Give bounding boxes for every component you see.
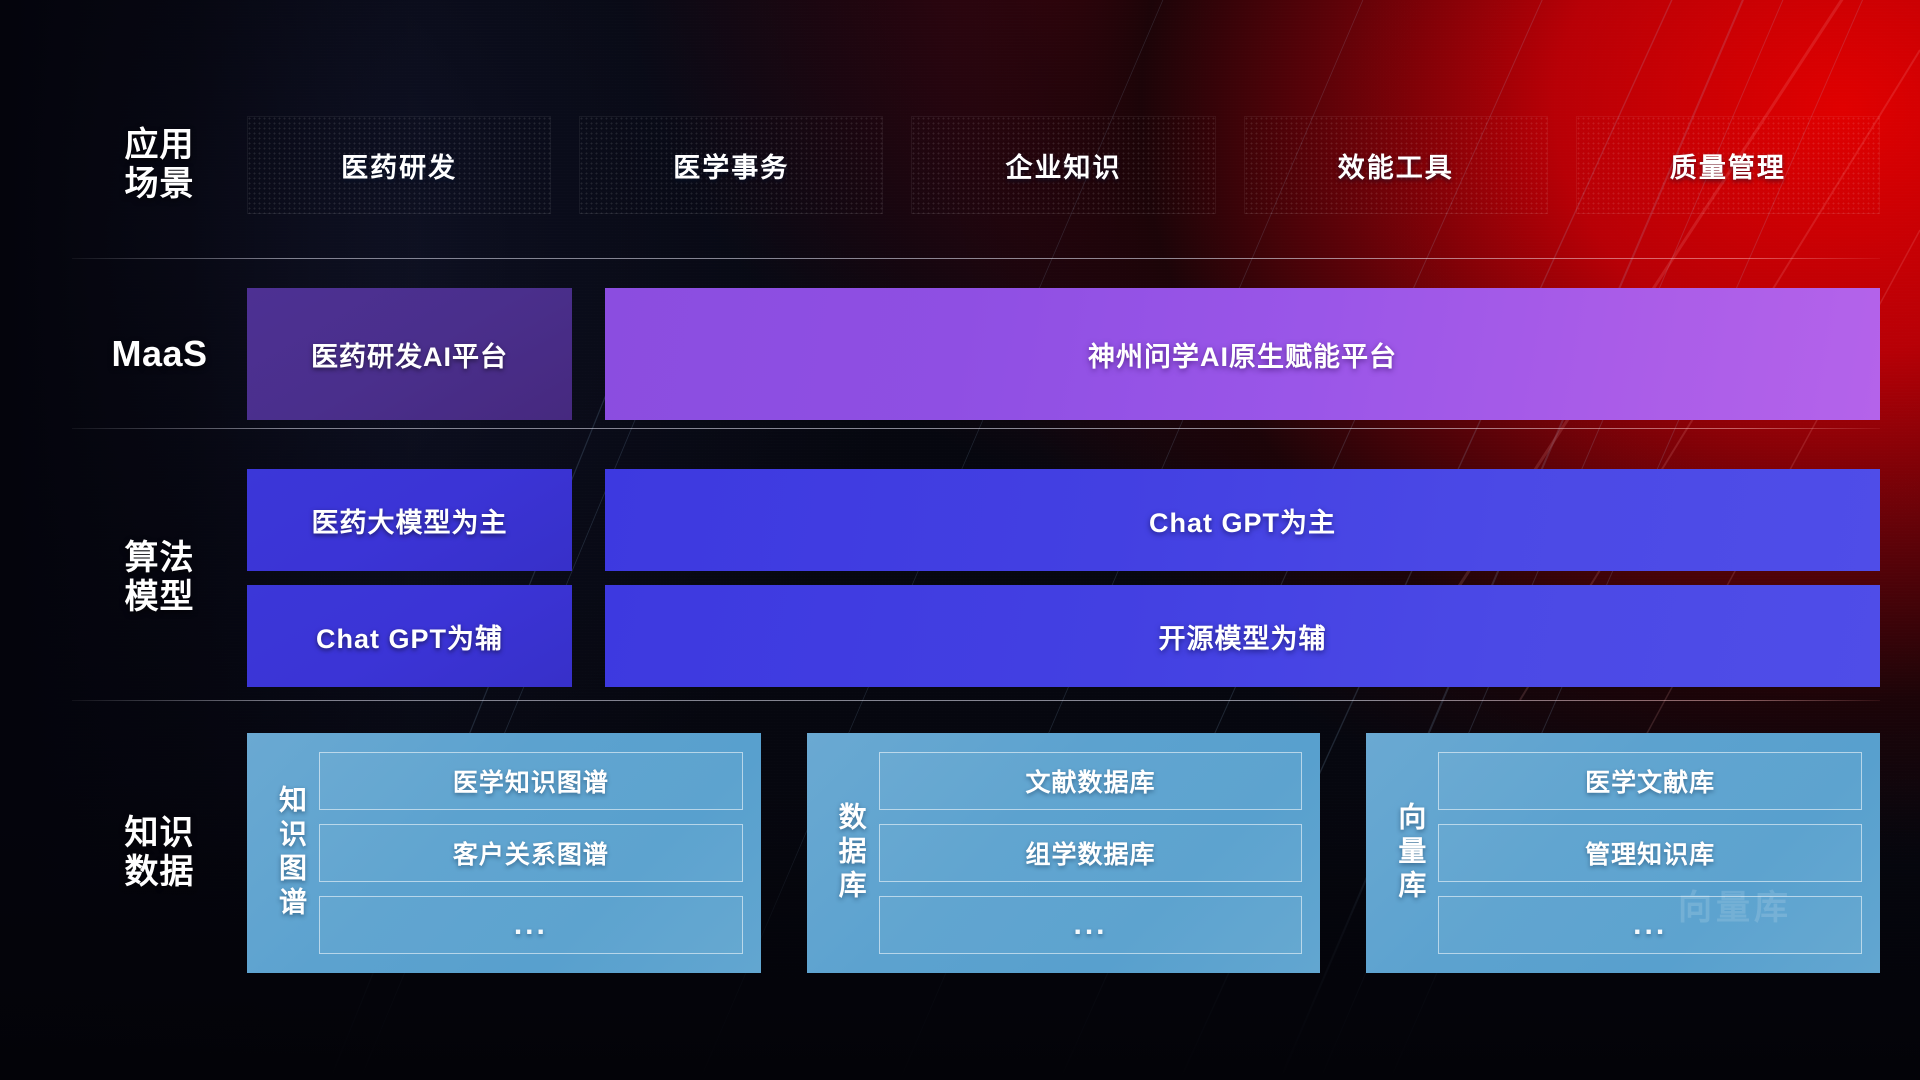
scenario-box-efficiency-tools[interactable]: 效能工具 [1244, 116, 1548, 214]
scenario-box-quality-management[interactable]: 质量管理 [1576, 116, 1880, 214]
algorithm-box-opensource-secondary[interactable]: 开源模型为辅 [605, 585, 1880, 687]
knowledge-item-medical-knowledge-graph[interactable]: 医学知识图谱 [319, 752, 743, 810]
knowledge-item-omics-database[interactable]: 组学数据库 [879, 824, 1303, 882]
knowledge-item-customer-relation-graph[interactable]: 客户关系图谱 [319, 824, 743, 882]
algorithm-box-label: Chat GPT为辅 [316, 617, 503, 656]
scenario-box-list: 医药研发 医学事务 企业知识 效能工具 质量管理 [247, 116, 1880, 214]
divider-algorithm-knowledge [72, 700, 1880, 701]
knowledge-item-label: 组学数据库 [1026, 835, 1156, 871]
algorithm-box-grid: 医药大模型为主 Chat GPT为主 Chat GPT为辅 开源模型为辅 [247, 469, 1880, 687]
knowledge-item-label: ... [1633, 908, 1667, 942]
algorithm-box-pharma-llm-primary[interactable]: 医药大模型为主 [247, 469, 572, 571]
maas-box-label: 神州问学AI原生赋能平台 [1088, 335, 1397, 374]
knowledge-item-label: 客户关系图谱 [453, 835, 609, 871]
knowledge-item-label: 管理知识库 [1585, 835, 1715, 871]
scenario-box-medicine-rnd[interactable]: 医药研发 [247, 116, 551, 214]
maas-box-pharma-ai-platform[interactable]: 医药研发AI平台 [247, 288, 572, 420]
knowledge-group-database[interactable]: 数据库 文献数据库 组学数据库 ... [807, 733, 1321, 973]
scenario-box-label: 企业知识 [1006, 146, 1122, 185]
knowledge-group-title: 数据库 [837, 747, 865, 959]
knowledge-group-list: 知识图谱 医学知识图谱 客户关系图谱 ... 数据库 [247, 733, 1880, 973]
knowledge-item-list: 文献数据库 组学数据库 ... [879, 747, 1303, 959]
scenario-box-label: 医药研发 [341, 146, 457, 185]
knowledge-item-management-knowledge-store[interactable]: 管理知识库 [1438, 824, 1862, 882]
knowledge-item-more[interactable]: ... [1438, 896, 1862, 954]
algorithm-line-2: Chat GPT为辅 开源模型为辅 [247, 585, 1880, 687]
knowledge-item-list: 医学知识图谱 客户关系图谱 ... [319, 747, 743, 959]
algorithm-box-chatgpt-secondary[interactable]: Chat GPT为辅 [247, 585, 572, 687]
knowledge-group-title: 知识图谱 [277, 747, 305, 959]
scenario-box-label: 医学事务 [673, 146, 789, 185]
knowledge-item-list: 医学文献库 管理知识库 ... [1438, 747, 1862, 959]
maas-box-shenzhou-wenxue-platform[interactable]: 神州问学AI原生赋能平台 [605, 288, 1880, 420]
maas-box-label: 医药研发AI平台 [311, 335, 508, 374]
knowledge-item-label: ... [1074, 908, 1108, 942]
algorithm-box-label: 医药大模型为主 [312, 501, 508, 540]
row-label-scenario: 应用 场景 [72, 126, 247, 205]
maas-box-list: 医药研发AI平台 神州问学AI原生赋能平台 [247, 288, 1880, 420]
row-knowledge: 知识 数据 知识图谱 医学知识图谱 客户关系图谱 ... 数据库 [72, 728, 1880, 978]
knowledge-group-vector-store[interactable]: 向量库 医学文献库 管理知识库 ... [1366, 733, 1880, 973]
algorithm-box-label: Chat GPT为主 [1149, 501, 1336, 540]
knowledge-item-more[interactable]: ... [879, 896, 1303, 954]
divider-scenario-maas [72, 258, 1880, 259]
algorithm-line-1: 医药大模型为主 Chat GPT为主 [247, 469, 1880, 571]
knowledge-item-label: 医学知识图谱 [453, 763, 609, 799]
algorithm-box-label: 开源模型为辅 [1159, 617, 1327, 656]
knowledge-item-more[interactable]: ... [319, 896, 743, 954]
row-scenario: 应用 场景 医药研发 医学事务 企业知识 效能工具 质量管理 [72, 110, 1880, 220]
knowledge-item-label: 文献数据库 [1026, 763, 1156, 799]
algorithm-box-chatgpt-primary[interactable]: Chat GPT为主 [605, 469, 1880, 571]
scenario-box-label: 效能工具 [1338, 146, 1454, 185]
knowledge-item-medical-literature-store[interactable]: 医学文献库 [1438, 752, 1862, 810]
scenario-box-medical-affairs[interactable]: 医学事务 [579, 116, 883, 214]
row-label-algorithm: 算法 模型 [72, 539, 247, 618]
slide-canvas: 应用 场景 医药研发 医学事务 企业知识 效能工具 质量管理 MaaS 医药研发… [0, 0, 1920, 1080]
knowledge-group-knowledge-graph[interactable]: 知识图谱 医学知识图谱 客户关系图谱 ... [247, 733, 761, 973]
knowledge-item-label: 医学文献库 [1585, 763, 1715, 799]
scenario-box-label: 质量管理 [1670, 146, 1786, 185]
knowledge-group-title: 向量库 [1396, 747, 1424, 959]
row-label-knowledge: 知识 数据 [72, 814, 247, 893]
row-algorithm: 算法 模型 医药大模型为主 Chat GPT为主 Chat GPT为辅 开源模型… [72, 458, 1880, 698]
knowledge-item-literature-database[interactable]: 文献数据库 [879, 752, 1303, 810]
divider-maas-algorithm [72, 428, 1880, 429]
row-maas: MaaS 医药研发AI平台 神州问学AI原生赋能平台 [72, 288, 1880, 420]
knowledge-item-label: ... [514, 908, 548, 942]
scenario-box-enterprise-knowledge[interactable]: 企业知识 [911, 116, 1215, 214]
row-label-maas: MaaS [72, 333, 247, 375]
